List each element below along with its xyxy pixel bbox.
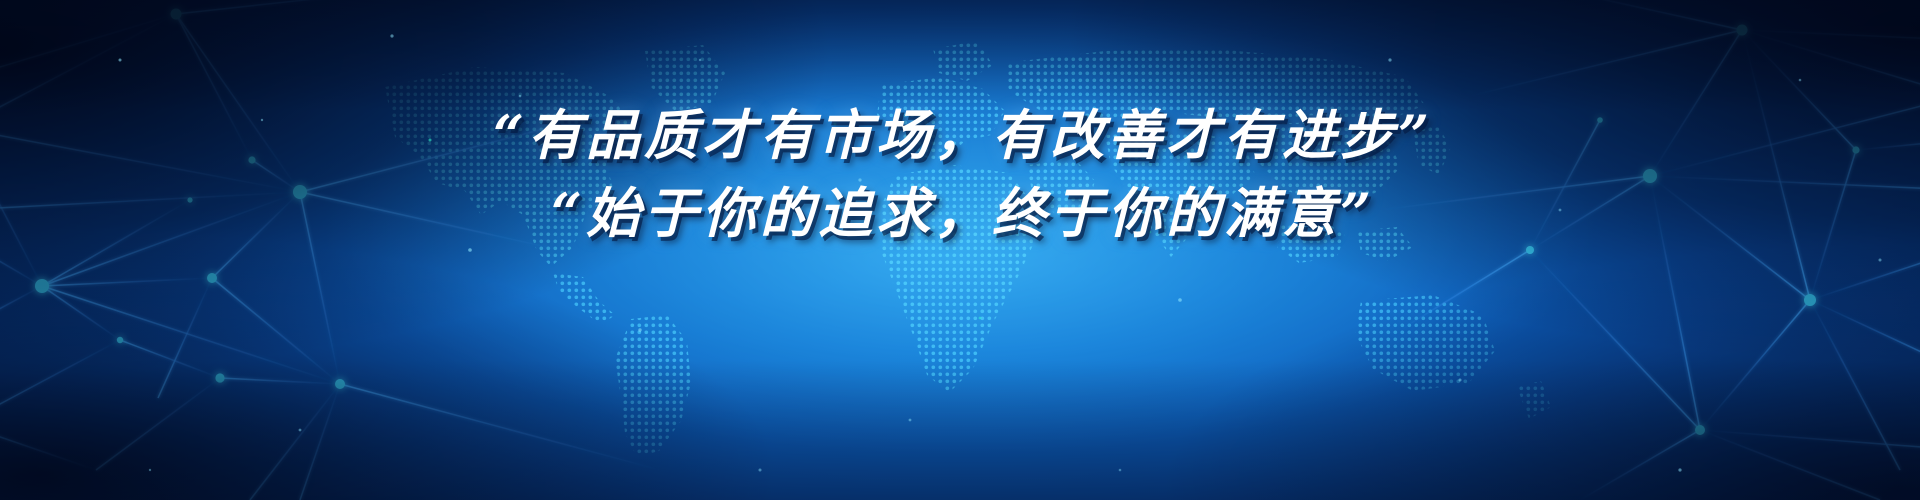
headline-line-1: “有品质才有市场，有改善才有进步” (0, 96, 1920, 174)
hero-banner: “有品质才有市场，有改善才有进步” “始于你的追求，终于你的满意” (0, 0, 1920, 500)
headline-block: “有品质才有市场，有改善才有进步” “始于你的追求，终于你的满意” (0, 96, 1920, 252)
headline-line-2: “始于你的追求，终于你的满意” (0, 174, 1920, 252)
